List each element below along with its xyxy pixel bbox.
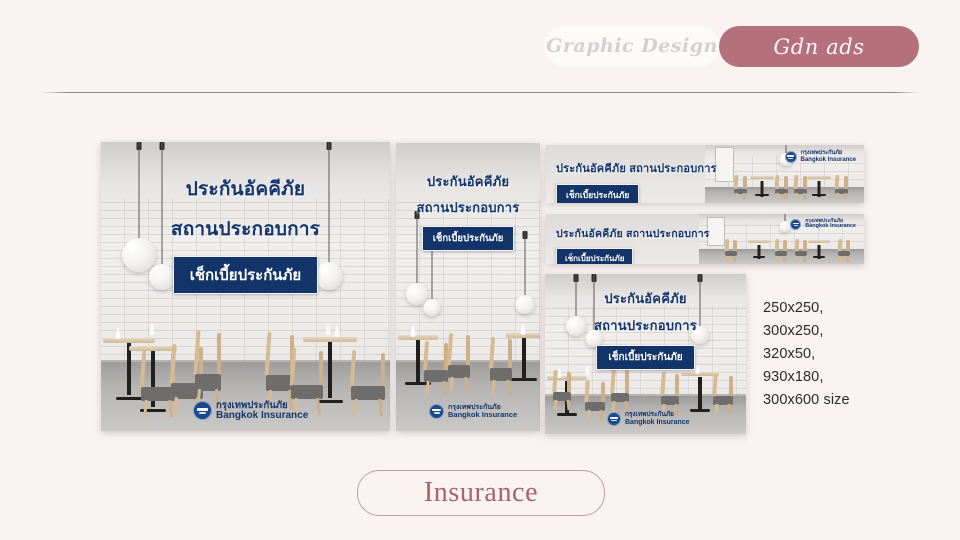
chair: [490, 337, 512, 393]
bangkok-insurance-emblem-icon: [790, 219, 801, 230]
brand-name-thai: กรุงเทพประกันภัย: [216, 401, 308, 411]
bangkok-insurance-emblem-icon: [785, 151, 797, 163]
chair: [838, 239, 850, 261]
table: [750, 176, 774, 196]
brand-name-english: Bangkok Insurance: [801, 157, 856, 163]
brand-name-english: Bangkok Insurance: [805, 224, 856, 230]
chair: [351, 350, 385, 414]
ad-headline-line1: ประกันอัคคีภัย: [396, 171, 540, 192]
chair: [713, 374, 733, 414]
window: [715, 147, 734, 181]
header: Graphic Design Gdn ads: [0, 26, 960, 70]
ad-vertical[interactable]: ประกันอัคคีภัย สถานประกอบการ เช็กเบี้ยปร…: [396, 143, 540, 431]
ad-cta-button[interactable]: เช็กเบี้ยประกันภัย: [556, 184, 639, 203]
project-label: Gdn ads: [773, 35, 864, 59]
brand-name-thai: กรุงเทพประกันภัย: [625, 412, 690, 419]
ad-copy: ประกันอัคคีภัย สถานประกอบการ เช็กเบี้ยปร…: [101, 174, 390, 294]
table: [807, 176, 831, 196]
size-line: 300x250,: [763, 320, 953, 343]
brand-logo: กรุงเทพประกันภัย Bangkok Insurance: [429, 404, 517, 419]
ad-rectangle-300x250[interactable]: ประกันอัคคีภัย สถานประกอบการ เช็กเบี้ยปร…: [545, 274, 746, 434]
ad-headline-line1: ประกันอัคคีภัย: [101, 174, 390, 204]
chair: [661, 372, 679, 414]
brand-logo: กรุงเทพประกันภัย Bangkok Insurance: [193, 401, 308, 421]
chair: [448, 333, 470, 391]
brand-name-english: Bangkok Insurance: [216, 411, 308, 422]
chair: [611, 368, 629, 412]
chair: [775, 239, 787, 261]
brand-logo: กรุงเทพประกันภัย Bangkok Insurance: [607, 412, 690, 426]
chair: [725, 239, 737, 261]
table: [808, 240, 830, 258]
slide-canvas: Graphic Design Gdn ads: [0, 0, 960, 540]
ad-square-large[interactable]: ประกันอัคคีภัย สถานประกอบการ เช็กเบี้ยปร…: [101, 142, 390, 431]
table: [748, 240, 770, 258]
project-badge: Gdn ads: [719, 26, 919, 67]
chair: [794, 175, 807, 199]
ad-headline-combined: ประกันอัคคีภัย สถานประกอบการ: [556, 225, 710, 242]
ad-copy: ประกันอัคคีภัย สถานประกอบการ เช็กเบี้ยปร…: [545, 288, 746, 370]
ad-cta-button[interactable]: เช็กเบี้ยประกันภัย: [556, 248, 633, 264]
footer-badge: Insurance: [357, 470, 605, 516]
chair: [195, 330, 221, 408]
size-line: 300x600 size: [763, 389, 953, 412]
brand-logo: กรุงเทพประกันภัย Bangkok Insurance: [790, 219, 856, 230]
ad-copy: ประกันอัคคีภัย สถานประกอบการ เช็กเบี้ยปร…: [556, 159, 717, 203]
ad-banner-320x50[interactable]: ประกันอัคคีภัย สถานประกอบการ เช็กเบี้ยปร…: [546, 214, 864, 264]
ad-copy: ประกันอัคคีภัย สถานประกอบการ เช็กเบี้ยปร…: [396, 171, 540, 251]
ad-headline-line2: สถานประกอบการ: [545, 315, 746, 336]
bangkok-insurance-emblem-icon: [429, 404, 444, 419]
ad-cta-button[interactable]: เช็กเบี้ยประกันภัย: [422, 226, 515, 251]
chair: [835, 175, 848, 199]
ad-headline-combined: ประกันอัคคีภัย สถานประกอบการ: [556, 159, 717, 177]
ad-headline-line1: ประกันอัคคีภัย: [545, 288, 746, 309]
footer-label: Insurance: [424, 477, 538, 509]
category-badge: Graphic Design: [544, 26, 720, 66]
chair: [585, 380, 605, 420]
brand-name-english: Bangkok Insurance: [448, 411, 517, 419]
ad-sizes-list: 250x250, 300x250, 320x50, 930x180, 300x6…: [763, 297, 953, 412]
brand-name-english: Bangkok Insurance: [625, 419, 690, 426]
size-line: 320x50,: [763, 343, 953, 366]
bangkok-insurance-emblem-icon: [607, 412, 621, 426]
bangkok-insurance-emblem-icon: [193, 401, 212, 420]
ad-headline-line2: สถานประกอบการ: [396, 197, 540, 218]
chair: [734, 175, 747, 199]
chair: [795, 239, 807, 261]
brand-logo: กรุงเทพประกันภัย Bangkok Insurance: [785, 151, 856, 163]
size-line: 250x250,: [763, 297, 953, 320]
header-divider: [41, 92, 920, 93]
ad-cta-button[interactable]: เช็กเบี้ยประกันภัย: [596, 345, 694, 370]
ad-copy: ประกันอัคคีภัย สถานประกอบการ เช็กเบี้ยปร…: [556, 225, 710, 264]
ad-headline-line2: สถานประกอบการ: [101, 214, 390, 244]
ad-cta-button[interactable]: เช็กเบี้ยประกันภัย: [173, 256, 318, 294]
chair: [553, 370, 571, 410]
ad-leaderboard-930x180[interactable]: ประกันอัคคีภัย สถานประกอบการ เช็กเบี้ยปร…: [546, 145, 864, 203]
chair: [775, 175, 788, 199]
size-line: 930x180,: [763, 366, 953, 389]
chair: [424, 341, 448, 393]
category-label: Graphic Design: [546, 35, 718, 57]
